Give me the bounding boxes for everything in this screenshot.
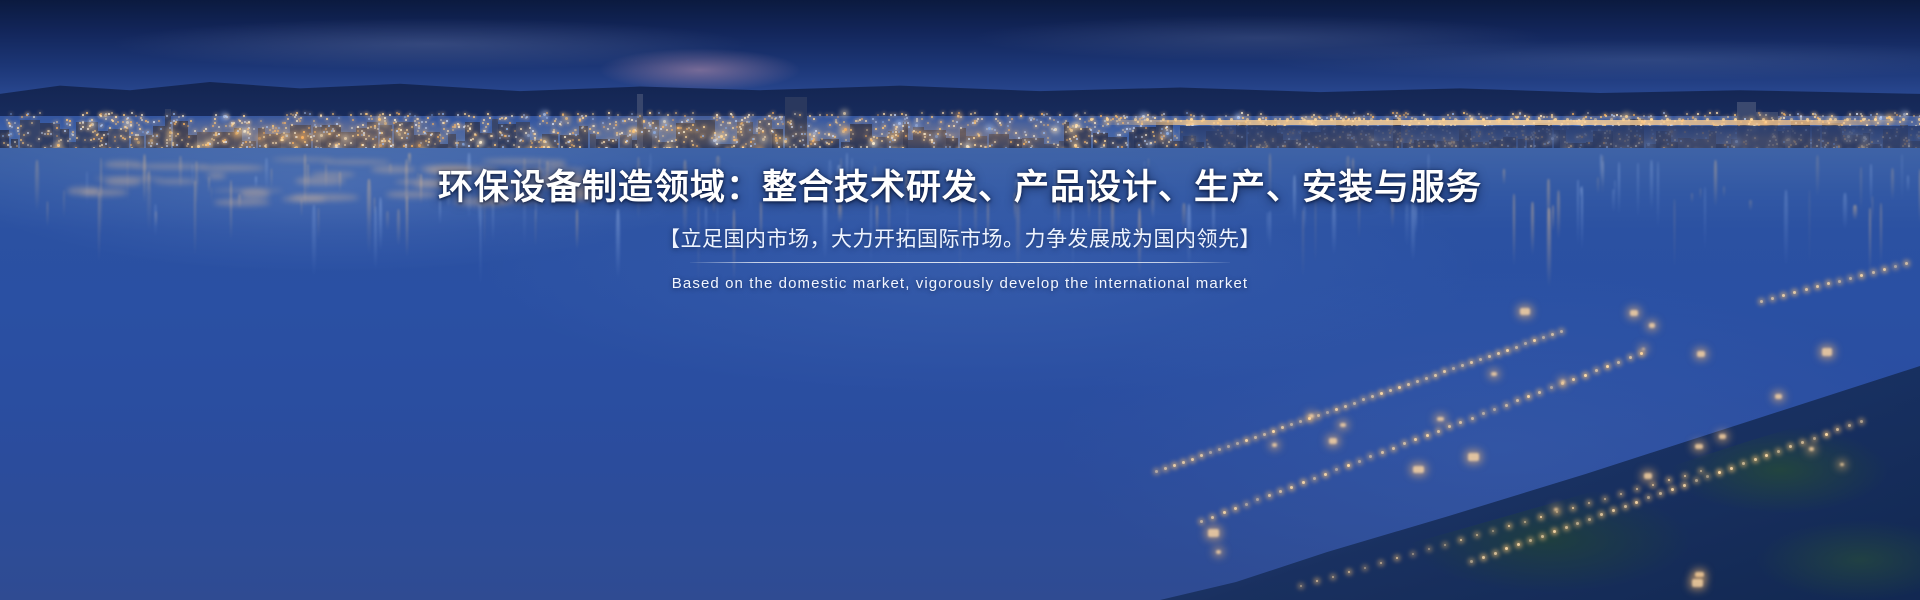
subtitle-divider (690, 262, 1230, 263)
bridge-lights (1090, 118, 1920, 126)
banner-headline: 环保设备制造领域：整合技术研发、产品设计、生产、安装与服务 (438, 166, 1482, 210)
banner-english-tagline: Based on the domestic market, vigorously… (672, 275, 1248, 292)
banner-subtitle-group: 【立足国内市场，大力开拓国际市场。力争发展成为国内领先】 Based on th… (659, 226, 1261, 292)
hero-banner: 环保设备制造领域：整合技术研发、产品设计、生产、安装与服务 【立足国内市场，大力… (0, 0, 1920, 600)
banner-subtitle: 【立足国内市场，大力开拓国际市场。力争发展成为国内领先】 (659, 226, 1261, 253)
